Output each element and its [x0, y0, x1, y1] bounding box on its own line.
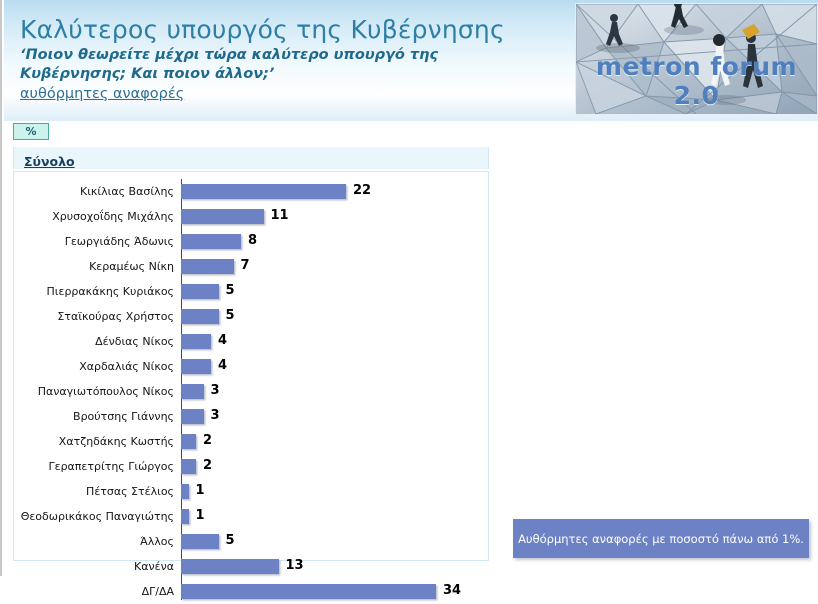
- chart-bar-value: 7: [241, 258, 250, 274]
- results-panel: Σύνολο Κικίλιας Βασίλης22Χρυσοχοΐδης Μιχ…: [13, 147, 489, 561]
- chart-row: Πιερρακάκης Κυριάκος5: [14, 279, 488, 304]
- page-title: Καλύτερος υπουργός της Κυβέρνησης: [20, 14, 565, 45]
- chart-row: Σταϊκούρας Χρήστος5: [14, 304, 488, 329]
- chart-row-label: Κεραμέως Νίκη: [14, 254, 174, 279]
- chart-bar[interactable]: [181, 359, 211, 374]
- chart-row: Κανένα13: [14, 554, 488, 579]
- chart-bar-track: 5: [181, 284, 488, 299]
- chart-bar-value: 5: [226, 308, 235, 324]
- chart-bar[interactable]: [181, 409, 204, 424]
- chart-row: Γεωργιάδης Άδωνις8: [14, 229, 488, 254]
- spontaneous-mentions-link[interactable]: αυθόρμητες αναφορές: [20, 86, 184, 102]
- chart-bar[interactable]: [181, 484, 189, 499]
- chart-row-label: Χατζηδάκης Κωστής: [14, 429, 174, 454]
- chart-row: Πέτσας Στέλιος1: [14, 479, 488, 504]
- chart-bar-value: 5: [226, 533, 235, 549]
- chart-bar-track: 7: [181, 259, 488, 274]
- chart-bar-track: 11: [181, 209, 488, 224]
- chart-row: Κικίλιας Βασίλης22: [14, 179, 488, 204]
- chart-bar[interactable]: [181, 284, 219, 299]
- metron-forum-logo: metron forum 2.0: [575, 3, 818, 115]
- chart-bar-track: 3: [181, 409, 488, 424]
- chart-bar-value: 2: [203, 433, 212, 449]
- chart-row: ΔΓ/ΔΑ34: [14, 579, 488, 604]
- chart-row: Θεοδωρικάκος Παναγιώτης1: [14, 504, 488, 529]
- chart-bar-track: 3: [181, 384, 488, 399]
- chart-bar-track: 8: [181, 234, 488, 249]
- chart-bar[interactable]: [181, 534, 219, 549]
- chart-bar-value: 11: [271, 208, 289, 224]
- chart-bar[interactable]: [181, 509, 189, 524]
- chart-bar-track: 13: [181, 559, 488, 574]
- chart-row: Βρούτσης Γιάννης3: [14, 404, 488, 429]
- chart-row-label: Χρυσοχοΐδης Μιχάλης: [14, 204, 174, 229]
- chart-row: Χαρδαλιάς Νίκος4: [14, 354, 488, 379]
- chart-row-label: Πέτσας Στέλιος: [14, 479, 174, 504]
- chart-bar-track: 1: [181, 509, 488, 524]
- percent-toggle-button[interactable]: %: [13, 123, 49, 140]
- chart-bar[interactable]: [181, 434, 196, 449]
- chart-row-label: Παναγιωτόπουλος Νίκος: [14, 379, 174, 404]
- chart-bar[interactable]: [181, 184, 346, 199]
- chart-bar[interactable]: [181, 584, 436, 599]
- chart-bar-value: 2: [203, 458, 212, 474]
- chart-bar-track: 4: [181, 359, 488, 374]
- footnote-box: Αυθόρμητες αναφορές με ποσοστό πάνω από …: [513, 519, 809, 558]
- chart-bar-value: 13: [286, 558, 304, 574]
- chart-row-label: Πιερρακάκης Κυριάκος: [14, 279, 174, 304]
- logo-artwork-icon: [576, 4, 817, 114]
- chart-bar-value: 4: [218, 358, 227, 374]
- tab-total[interactable]: Σύνολο: [24, 154, 75, 169]
- chart-row-label: Βρούτσης Γιάννης: [14, 404, 174, 429]
- chart-row-label: Δένδιας Νίκος: [14, 329, 174, 354]
- chart-bar[interactable]: [181, 334, 211, 349]
- footnote-text: Αυθόρμητες αναφορές με ποσοστό πάνω από …: [518, 532, 804, 546]
- chart-row-label: Κικίλιας Βασίλης: [14, 179, 174, 204]
- chart-row: Κεραμέως Νίκη7: [14, 254, 488, 279]
- chart-row-label: Γεωργιάδης Άδωνις: [14, 229, 174, 254]
- chart-row-label: Χαρδαλιάς Νίκος: [14, 354, 174, 379]
- chart-row-label: Γεραπετρίτης Γιώργος: [14, 454, 174, 479]
- chart-row-label: Άλλος: [14, 529, 174, 554]
- chart-row-label: ΔΓ/ΔΑ: [14, 579, 174, 604]
- chart-bar-track: 34: [181, 584, 488, 599]
- chart-bar[interactable]: [181, 209, 264, 224]
- chart-bar-value: 22: [353, 183, 371, 199]
- chart-row-label: Θεοδωρικάκος Παναγιώτης: [14, 504, 174, 529]
- chart-rows: Κικίλιας Βασίλης22Χρυσοχοΐδης Μιχάλης11Γ…: [14, 179, 488, 604]
- chart-bar-value: 8: [248, 233, 257, 249]
- chart-row: Γεραπετρίτης Γιώργος2: [14, 454, 488, 479]
- header-text-block: Καλύτερος υπουργός της Κυβέρνησης ‘Ποιον…: [20, 14, 565, 102]
- chart-bar[interactable]: [181, 259, 234, 274]
- chart-bar-value: 1: [196, 508, 205, 524]
- chart-row: Χατζηδάκης Κωστής2: [14, 429, 488, 454]
- chart-row: Δένδιας Νίκος4: [14, 329, 488, 354]
- chart-bar-track: 5: [181, 309, 488, 324]
- chart-bar-track: 2: [181, 434, 488, 449]
- chart-bar-value: 34: [443, 583, 461, 599]
- panel-tab-bar: Σύνολο: [13, 147, 489, 169]
- chart-bar[interactable]: [181, 559, 279, 574]
- chart-bar-track: 5: [181, 534, 488, 549]
- chart-row-label: Σταϊκούρας Χρήστος: [14, 304, 174, 329]
- chart-row-label: Κανένα: [14, 554, 174, 579]
- chart-row: Παναγιωτόπουλος Νίκος3: [14, 379, 488, 404]
- chart-bar-track: 4: [181, 334, 488, 349]
- chart-bar[interactable]: [181, 234, 241, 249]
- chart-bar[interactable]: [181, 459, 196, 474]
- chart-bar-value: 3: [211, 408, 220, 424]
- chart-bar-track: 1: [181, 484, 488, 499]
- chart-bar[interactable]: [181, 384, 204, 399]
- chart-bar[interactable]: [181, 309, 219, 324]
- chart-bar-track: 2: [181, 459, 488, 474]
- page-root: Καλύτερος υπουργός της Κυβέρνησης ‘Ποιον…: [0, 0, 818, 576]
- chart-bar-track: 22: [181, 184, 488, 199]
- chart-row: Χρυσοχοΐδης Μιχάλης11: [14, 204, 488, 229]
- chart-bar-value: 4: [218, 333, 227, 349]
- chart-bar-value: 3: [211, 383, 220, 399]
- page-header: Καλύτερος υπουργός της Κυβέρνησης ‘Ποιον…: [4, 0, 818, 121]
- chart-row: Άλλος5: [14, 529, 488, 554]
- bar-chart: Κικίλιας Βασίλης22Χρυσοχοΐδης Μιχάλης11Γ…: [13, 171, 489, 561]
- chart-bar-value: 5: [226, 283, 235, 299]
- page-subtitle: ‘Ποιον θεωρείτε μέχρι τώρα καλύτερο υπου…: [20, 46, 490, 83]
- chart-bar-value: 1: [196, 483, 205, 499]
